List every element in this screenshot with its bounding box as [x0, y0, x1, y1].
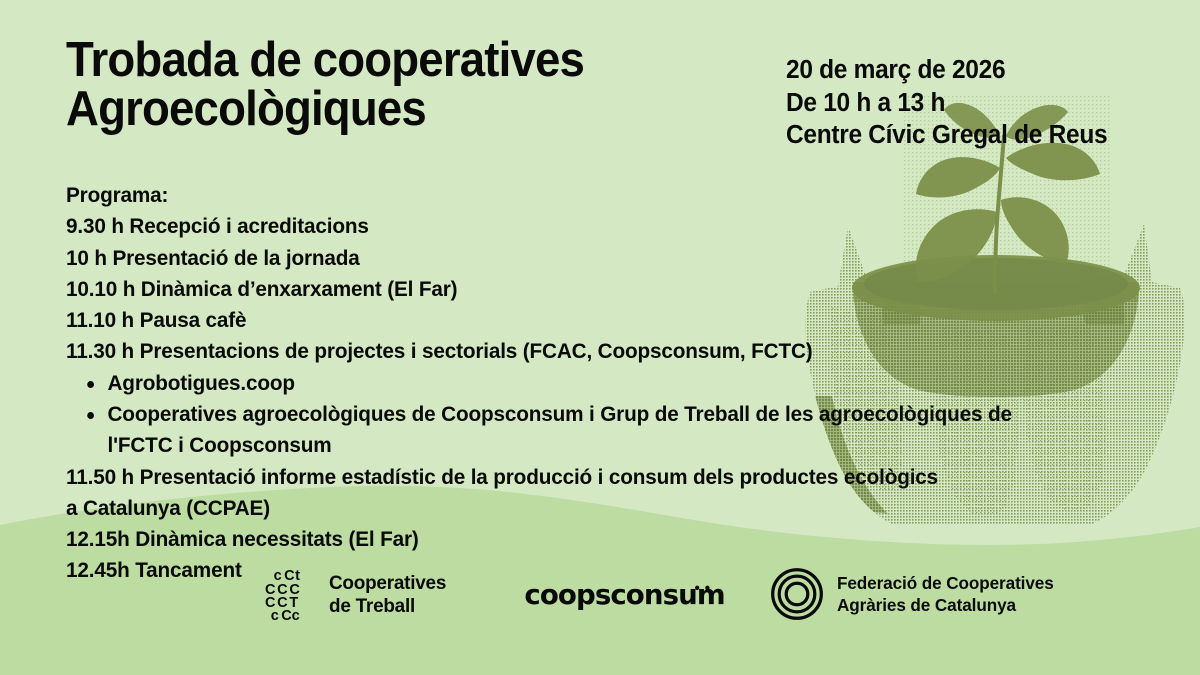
- programme-item: 11.30 h Presentacions de projectes i sec…: [66, 336, 1041, 367]
- concentric-rings-icon: [770, 567, 824, 621]
- logo-label-line-2: de Treball: [329, 595, 446, 618]
- coopsconsum-wordmark-icon: coopsconsum: [522, 577, 738, 613]
- logo-federacio-cooperatives-agraries: Federació de Cooperatives Agràries de Ca…: [770, 567, 1058, 621]
- programme-item: 10 h Presentació de la jornada: [66, 243, 1041, 274]
- list-item: Cooperatives agroecològiques de Coopscon…: [66, 399, 1041, 462]
- cct-circular-lettermark-icon: cCt CCC CCT cCc: [258, 566, 316, 624]
- page-title: Trobada de cooperatives Agroecològiques: [66, 36, 717, 133]
- svg-text:c: c: [271, 608, 279, 624]
- svg-text:c: c: [292, 608, 300, 624]
- event-venue: Centre Cívic Gregal de Reus: [786, 119, 1170, 152]
- logo-label-line-1: Federació de Cooperatives: [837, 572, 1054, 594]
- sponsor-logos: cCt CCC CCT cCc Cooperatives de Treball …: [0, 565, 1200, 639]
- logo-federacio-label: Federació de Cooperatives Agràries de Ca…: [837, 572, 1054, 617]
- logo-label-line-1: Cooperatives: [329, 572, 446, 595]
- programme-item: 9.30 h Recepció i acreditacions: [66, 211, 1041, 242]
- logo-cooperatives-de-treball: cCt CCC CCT cCc Cooperatives de Treball: [258, 566, 450, 624]
- programme-item: 11.10 h Pausa cafè: [66, 305, 1041, 336]
- programme-heading: Programa:: [66, 180, 1041, 211]
- bullet-dot-icon: [87, 412, 94, 419]
- svg-text:coopsconsum: coopsconsum: [524, 578, 724, 611]
- list-item: Agrobotigues.coop: [66, 368, 1041, 399]
- bullet-dot-icon: [87, 381, 94, 388]
- event-time: De 10 h a 13 h: [786, 87, 1170, 120]
- list-item-label: Cooperatives agroecològiques de Coopscon…: [107, 402, 1011, 457]
- svg-text:C: C: [281, 608, 292, 624]
- page-title-line-1: Trobada de cooperatives: [66, 36, 717, 85]
- logo-coopsconsum: coopsconsum: [522, 577, 738, 613]
- event-meta: 20 de març de 2026 De 10 h a 13 h Centre…: [786, 54, 1170, 152]
- programme-item: 12.15h Dinàmica necessitats (El Far): [66, 524, 1041, 555]
- poster-canvas: Trobada de cooperatives Agroecològiques …: [0, 0, 1200, 675]
- logo-cooperatives-de-treball-label: Cooperatives de Treball: [329, 572, 446, 617]
- event-date: 20 de març de 2026: [786, 54, 1170, 87]
- programme-item: 11.50 h Presentació informe estadístic d…: [66, 462, 1041, 493]
- page-title-line-2: Agroecològiques: [66, 85, 717, 134]
- programme-item: a Catalunya (CCPAE): [66, 493, 1041, 524]
- logo-label-line-2: Agràries de Catalunya: [837, 594, 1054, 616]
- programme-bullet-list: Agrobotigues.coop Cooperatives agroecolò…: [66, 368, 1041, 462]
- programme-block: Programa: 9.30 h Recepció i acreditacion…: [66, 180, 1041, 587]
- programme-item: 10.10 h Dinàmica d’enxarxament (El Far): [66, 274, 1041, 305]
- list-item-label: Agrobotigues.coop: [107, 371, 294, 395]
